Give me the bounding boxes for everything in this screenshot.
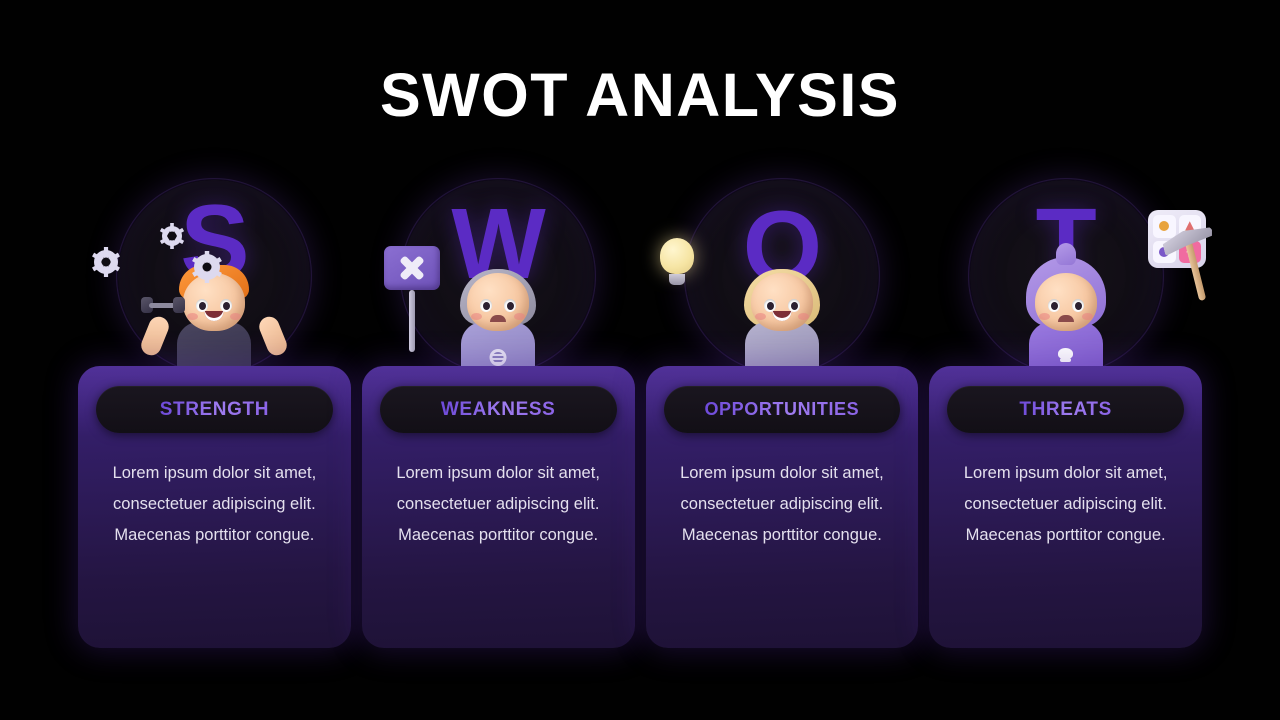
card-description: Lorem ipsum dolor sit amet, consectetuer… <box>949 458 1182 551</box>
card-weakness[interactable]: WEAKNESS Lorem ipsum dolor sit amet, con… <box>362 366 635 648</box>
swot-columns: S <box>78 176 1202 648</box>
cheek <box>798 313 809 320</box>
page-title: SWOT ANALYSIS <box>0 62 1280 129</box>
card-label: OPPORTUNITIES <box>704 399 859 420</box>
strength-illustration: S <box>78 176 351 372</box>
swot-column-strength[interactable]: S <box>78 176 351 648</box>
cheek <box>230 313 241 320</box>
head <box>751 273 813 331</box>
eye <box>504 299 516 312</box>
card-description: Lorem ipsum dolor sit amet, consectetuer… <box>98 458 331 551</box>
gear-icon <box>162 226 182 246</box>
skull-icon <box>1058 348 1073 362</box>
swot-column-weakness[interactable]: W <box>362 176 635 648</box>
mouth <box>772 311 791 321</box>
card-label: THREATS <box>1019 399 1112 421</box>
weakness-illustration: W <box>362 176 635 372</box>
lightbulb-icon <box>660 238 694 285</box>
arm <box>257 314 291 359</box>
card-label: STRENGTH <box>160 399 269 421</box>
head <box>467 273 529 331</box>
status-badge-weakness[interactable]: WEAKNESS <box>380 386 617 433</box>
gear-icon <box>94 250 118 274</box>
threats-illustration: T <box>929 176 1202 372</box>
cheek <box>1039 313 1050 320</box>
opportunities-illustration: O <box>646 176 919 372</box>
card-threats[interactable]: THREATS Lorem ipsum dolor sit amet, cons… <box>929 366 1202 648</box>
sad-character <box>423 249 573 384</box>
cheek <box>187 313 198 320</box>
eye <box>1048 299 1060 312</box>
mouth <box>1058 315 1074 322</box>
mouth <box>205 311 224 321</box>
card-description: Lorem ipsum dolor sit amet, consectetuer… <box>666 458 899 551</box>
eye <box>480 299 492 312</box>
card-label: WEAKNESS <box>441 399 556 421</box>
cheek <box>1082 313 1093 320</box>
arm <box>139 314 173 359</box>
gear-icon <box>194 254 220 280</box>
card-opportunities[interactable]: OPPORTUNITIES Lorem ipsum dolor sit amet… <box>646 366 919 648</box>
dumbbell-icon <box>141 297 185 313</box>
status-badge-strength[interactable]: STRENGTH <box>96 386 333 433</box>
head <box>183 273 245 331</box>
hooded-character <box>991 249 1141 384</box>
cheek <box>471 313 482 320</box>
swot-analysis-slide: SWOT ANALYSIS S <box>0 0 1280 720</box>
x-sign-icon <box>384 246 440 352</box>
shirt-emblem <box>490 349 507 366</box>
swot-column-threats[interactable]: T <box>929 176 1202 648</box>
swot-column-opportunities[interactable]: O <box>646 176 919 648</box>
head <box>1035 273 1097 331</box>
card-description: Lorem ipsum dolor sit amet, consectetuer… <box>382 458 615 551</box>
status-badge-threats[interactable]: THREATS <box>947 386 1184 433</box>
eye <box>1072 299 1084 312</box>
card-strength[interactable]: STRENGTH Lorem ipsum dolor sit amet, con… <box>78 366 351 648</box>
businesswoman-character <box>707 249 857 384</box>
mouth <box>490 315 506 322</box>
cheek <box>514 313 525 320</box>
cheek <box>755 313 766 320</box>
status-badge-opportunities[interactable]: OPPORTUNITIES <box>664 386 901 433</box>
